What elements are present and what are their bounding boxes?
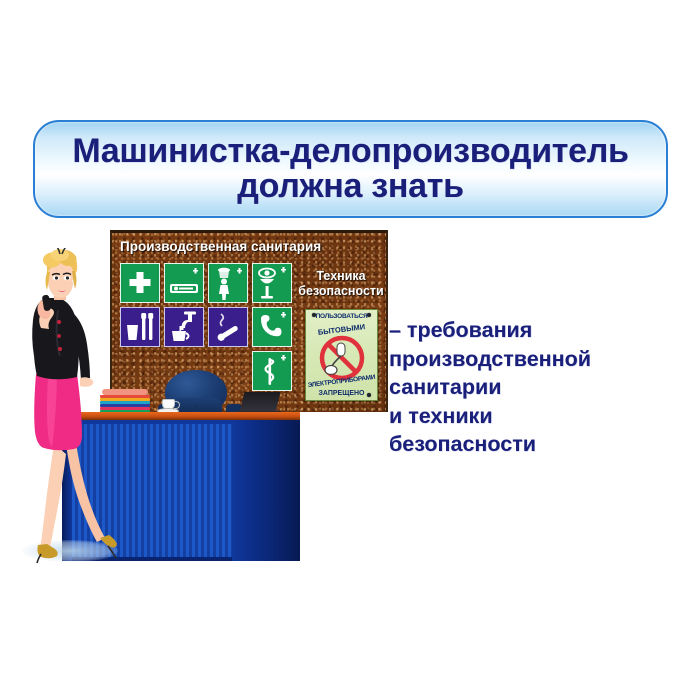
shoe-heel-left	[37, 554, 41, 563]
hand-right	[80, 377, 93, 387]
necklace-bead	[57, 320, 61, 324]
first-aid-cross-sign	[120, 263, 160, 303]
page-title: Машинистка-делопроизводитель должна знат…	[72, 134, 628, 204]
stretcher-sign	[164, 263, 204, 303]
eye-wash-station-sign	[252, 263, 292, 303]
title-banner: Машинистка-делопроизводитель должна знат…	[33, 120, 668, 218]
secretary-character	[14, 248, 122, 566]
slide-canvas: Машинистка-делопроизводитель должна знат…	[0, 0, 700, 700]
board-title: Производственная санитария	[120, 239, 321, 254]
cork-notice-board: Производственная санитария Техника безоп…	[110, 230, 388, 412]
laptop-screen	[240, 392, 281, 412]
emergency-telephone-sign	[252, 307, 292, 347]
laptop	[236, 392, 280, 414]
water-tap-sign	[164, 307, 204, 347]
skirt	[34, 374, 82, 450]
safety-shower-sign	[208, 263, 248, 303]
necklace-bead	[58, 347, 62, 351]
requirements-text: – требования производственной санитарии …	[389, 316, 689, 459]
necklace-bead	[57, 334, 61, 338]
poster-line-4: ЗАПРЕЩЕНО	[306, 390, 377, 397]
leg-right	[66, 442, 105, 542]
desk-right-shade	[232, 420, 300, 561]
board-subtitle: Техника безопасности	[294, 269, 388, 299]
rod-of-asclepius-sign	[252, 351, 292, 391]
toothbrush-cup-sign	[120, 307, 160, 347]
prohibition-poster: ПОЛЬЗОВАТЬСЯ БЫТОВЫМИ ЭЛЕКТРОПРИБОРАМИ З…	[305, 309, 378, 401]
hair-bun-top	[51, 249, 69, 261]
leg-left	[40, 444, 66, 552]
no-smoking-sign	[208, 307, 248, 347]
shoe-heel-right	[108, 546, 116, 558]
